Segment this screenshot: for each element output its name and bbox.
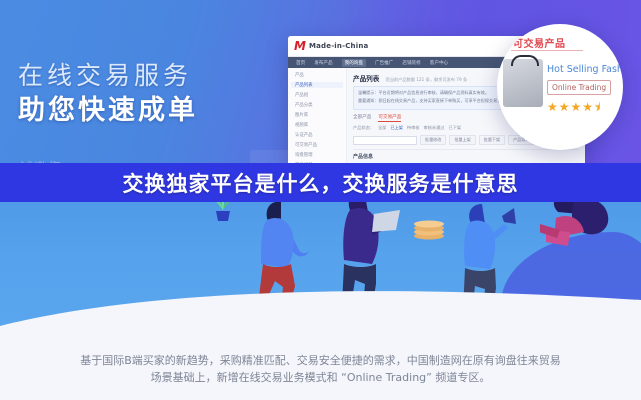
browser-search-input[interactable] (353, 136, 417, 145)
browser-button-0[interactable]: 批量修改 (420, 135, 446, 145)
filter-option-pending[interactable]: 待审核 (407, 125, 420, 131)
online-trading-badge: Online Trading (547, 80, 611, 95)
product-callout-circle: 可交易产品 Hot Selling Fashion Bag Online Tra… (497, 24, 623, 150)
sidebar-item-8[interactable]: 询盘管理 (291, 152, 343, 158)
filter-option-unlisted[interactable]: 已下架 (448, 125, 461, 131)
sidebar-item-4[interactable]: 图片库 (291, 112, 343, 118)
browser-page-title-note: 您当前产品数量 121 条，剩余可发布 79 条 (386, 77, 467, 82)
article-hero-page: 在线交易服务 助您快速成单 诚邀您 赢取新商机 (0, 0, 641, 400)
filter-option-all[interactable]: 全部 (378, 125, 386, 131)
promo-headline-line1: 在线交易服务 (18, 60, 233, 92)
browser-button-2[interactable]: 批量下架 (479, 135, 505, 145)
browser-table-header-text: 产品信息 (353, 154, 373, 160)
promo-headline-line2: 助您快速成单 (18, 94, 233, 129)
page-title: 交换独家平台是什么，交换服务是什意思 (0, 163, 641, 202)
product-thumbnail-image (503, 59, 543, 107)
hero-bottom-curve (0, 274, 641, 348)
hero-image: 在线交易服务 助您快速成单 诚邀您 赢取新商机 (0, 0, 641, 348)
logo-wordmark: Made-in-China (309, 42, 368, 50)
callout-underline (511, 50, 583, 51)
coin-stack-icon (412, 220, 446, 240)
sidebar-item-2[interactable]: 产品组 (291, 92, 343, 98)
sidebar-item-5[interactable]: 视频库 (291, 122, 343, 128)
person-figure-sitting (540, 190, 618, 270)
browser-page-title-text: 产品列表 (353, 75, 379, 83)
article-caption: 基于国际B端买家的新趋势，采购精准匹配、交易安全便捷的需求，中国制造网在原有询盘… (0, 352, 641, 386)
made-in-china-logo[interactable]: M Made-in-China (294, 40, 368, 52)
filter-option-rejected[interactable]: 审核未通过 (424, 125, 445, 131)
nav-item-4[interactable]: 店铺装修 (402, 60, 420, 66)
product-rating-stars: ★★★★⯨ (547, 98, 601, 119)
nav-item-3[interactable]: 广告推广 (375, 60, 393, 66)
sidebar-item-7[interactable]: 可交易产品 (291, 142, 343, 148)
nav-item-0[interactable]: 首页 (296, 60, 305, 66)
callout-title: 可交易产品 (513, 35, 566, 50)
promo-headline: 在线交易服务 助您快速成单 (18, 60, 233, 129)
nav-item-2[interactable]: 我的询盘 (342, 59, 366, 67)
nav-item-1[interactable]: 发布产品 (314, 60, 332, 66)
sidebar-item-1[interactable]: 产品列表 (291, 82, 343, 88)
browser-tab-tradable[interactable]: 可交易产品 (378, 114, 401, 122)
sidebar-item-6[interactable]: 认证产品 (291, 132, 343, 138)
nav-item-5[interactable]: 客户中心 (430, 60, 448, 66)
sidebar-item-3[interactable]: 产品分类 (291, 102, 343, 108)
filter-option-listed[interactable]: 已上架 (390, 125, 403, 131)
sidebar-item-0[interactable]: 产品 (291, 72, 343, 78)
filter-label: 产品状态： (353, 125, 374, 131)
browser-button-1[interactable]: 批量上架 (449, 135, 475, 145)
product-name-label: Hot Selling Fashion Bag (547, 64, 623, 75)
browser-sidebar[interactable]: 产品 产品列表 产品组 产品分类 图片库 视频库 认证产品 可交易产品 询盘管理… (288, 68, 347, 166)
logo-m-mark: M (294, 40, 306, 52)
browser-table-header: 产品信息 (353, 149, 579, 160)
caption-line-1: 基于国际B端买家的新趋势，采购精准匹配、交易安全便捷的需求，中国制造网在原有询盘… (60, 352, 581, 369)
caption-line-2: 场景基础上，新增在线交易业务模式和 “Online Trading” 频道专区。 (60, 369, 581, 386)
browser-tab-all[interactable]: 全部产品 (353, 114, 371, 122)
